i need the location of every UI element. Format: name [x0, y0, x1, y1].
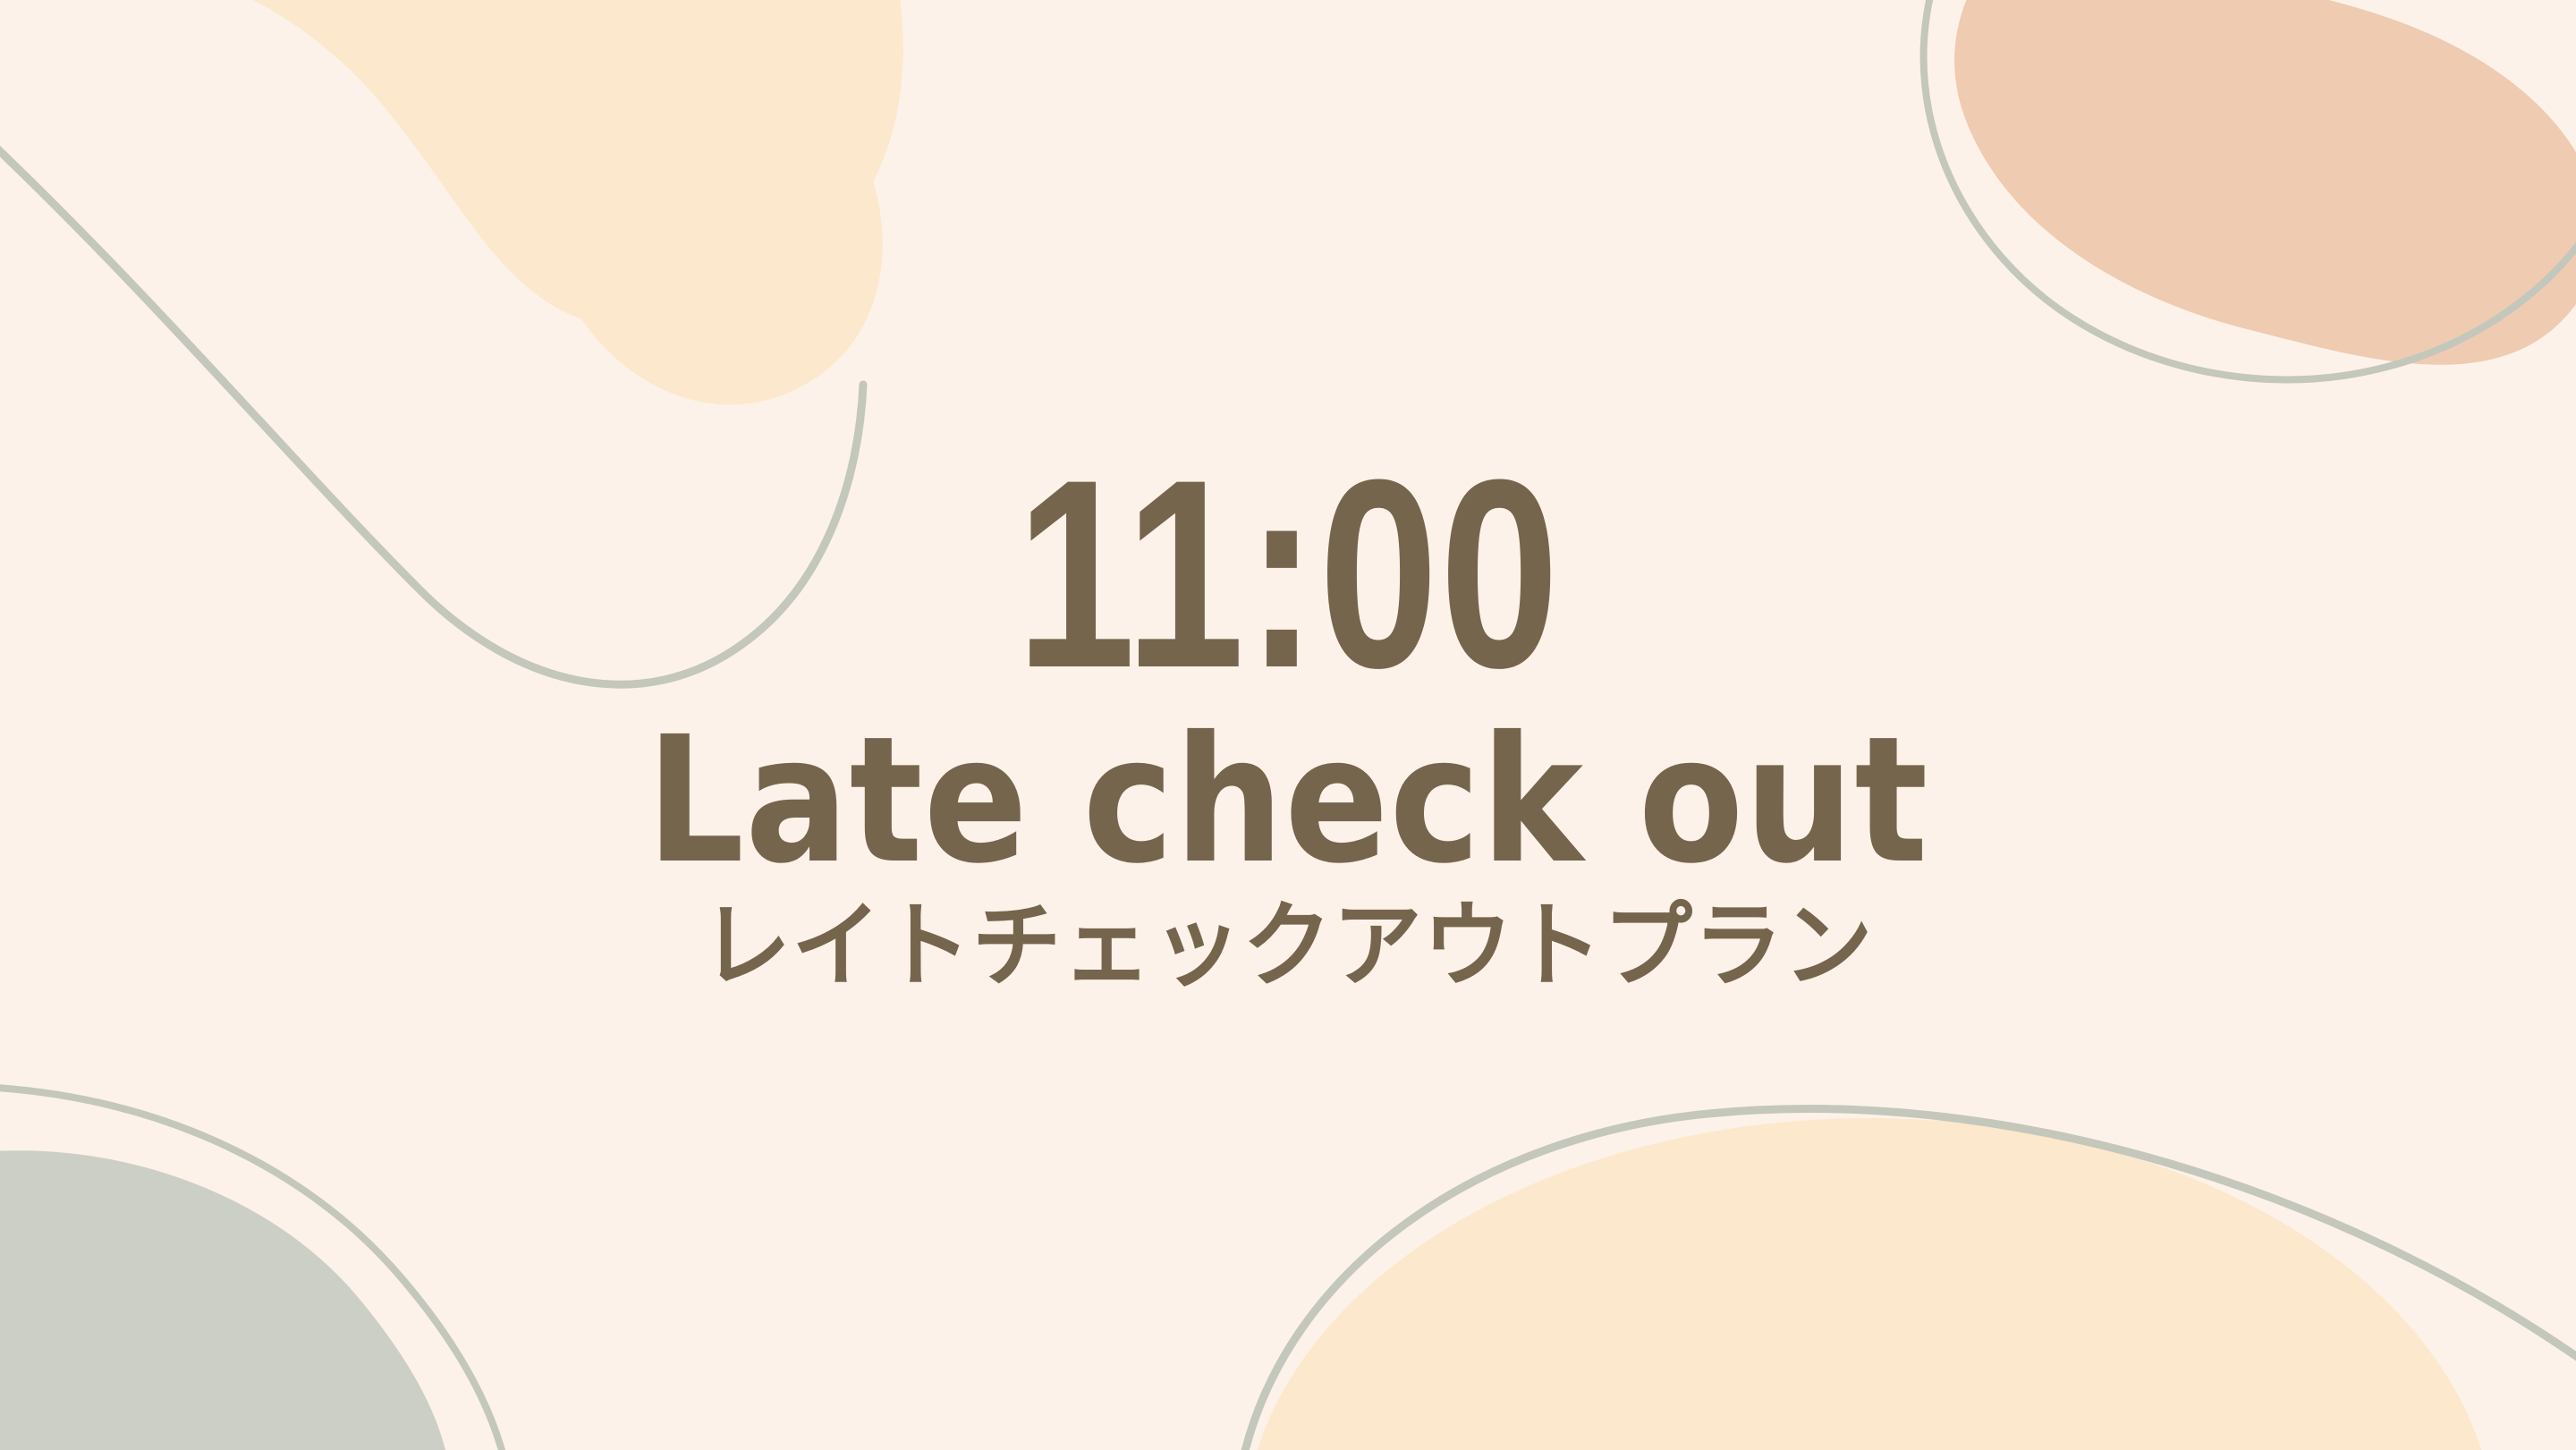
poster-canvas: 11:00 Late check out レイトチェックアウトプラン — [0, 0, 2576, 1450]
decorative-background — [0, 0, 2576, 1450]
